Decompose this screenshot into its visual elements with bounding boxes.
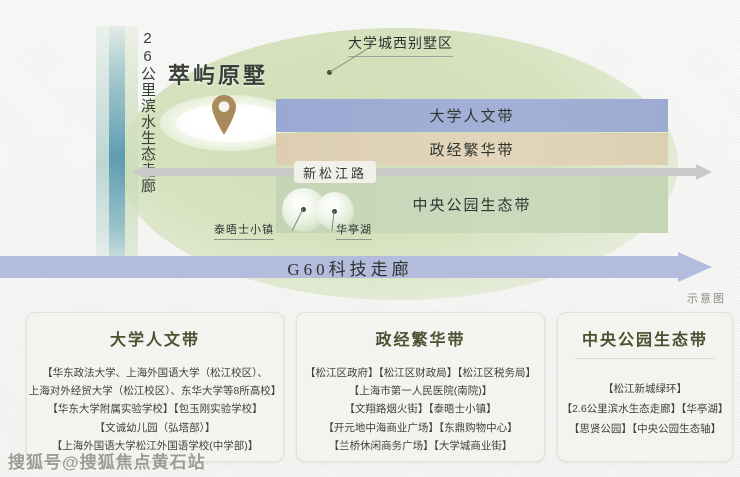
road-name-label: 新松江路	[294, 161, 376, 183]
card-government-belt: 政经繁华带 【松江区政府】【松江区财政局】【松江区税务局】 【上海市第一人民医院…	[296, 312, 545, 462]
road-arrow	[132, 163, 712, 181]
card-line: 【思贤公园】【中央公园生态轴】	[569, 422, 721, 436]
villa-district-leader-line	[320, 26, 380, 78]
card-line: 【松江区政府】【松江区财政局】【松江区税务局】	[305, 366, 536, 380]
card-line: 【松江新城绿环】	[603, 382, 687, 396]
card-line: 【开元地中海商业广场】【东鼎购物中心】	[323, 421, 517, 435]
card-line: 【华东大学附属实验学校】【包玉刚实验学校】	[47, 402, 262, 416]
card-line: 上海对外经贸大学（松江校区）、东华大学等8所高校】	[29, 384, 282, 398]
waterfront-ribbon-outer	[96, 26, 109, 278]
map-pin-icon	[209, 94, 239, 136]
project-name-label: 萃屿原墅	[168, 58, 268, 90]
card-university-belt-title: 大学人文带	[110, 326, 200, 350]
card-government-belt-lines: 【松江区政府】【松江区财政局】【松江区税务局】 【上海市第一人民医院(南院)】 …	[305, 366, 536, 453]
card-university-belt: 大学人文带 【华东政法大学、上海外国语大学（松江校区）、 上海对外经贸大学（松江…	[26, 312, 284, 462]
card-divider	[575, 358, 714, 359]
g60-corridor-label: G60科技走廊	[0, 252, 700, 282]
poi-label-thames-town: 泰晤士小镇	[214, 221, 274, 240]
band-university: 大学人文带	[276, 99, 668, 132]
card-line: 【文翔路烟火街】【泰晤士小镇】	[344, 402, 496, 416]
band-university-label: 大学人文带	[429, 105, 514, 126]
waterfront-ribbon-core	[109, 26, 125, 278]
card-central-park-belt: 中央公园生态带 【松江新城绿环】 【2.6公里滨水生态走廊】【华亭湖】 【思贤公…	[557, 312, 733, 462]
band-government-label: 政经繁华带	[429, 139, 514, 160]
card-central-park-belt-lines: 【松江新城绿环】 【2.6公里滨水生态走廊】【华亭湖】 【思贤公园】【中央公园生…	[566, 367, 724, 451]
schematic-diagram: 26公里滨水生态走廊 萃屿原墅 大学城西别墅区 大学人文带 政经繁华带 中央公园…	[0, 0, 740, 310]
card-line: 【华东政法大学、上海外国语大学（松江校区）、	[42, 366, 268, 380]
schematic-footnote: 示意图	[687, 290, 726, 306]
card-line: 【兰桥休闲商务广场】【大学城商业街】	[329, 439, 513, 453]
belt-cards-row: 大学人文带 【华东政法大学、上海外国语大学（松江校区）、 上海对外经贸大学（松江…	[0, 312, 740, 462]
card-line: 【文诚幼儿园（弘塔部）】	[95, 421, 216, 435]
card-government-belt-title: 政经繁华带	[375, 326, 465, 350]
card-university-belt-lines: 【华东政法大学、上海外国语大学（松江校区）、 上海对外经贸大学（松江校区）、东华…	[35, 366, 275, 453]
source-watermark: 搜狐号@搜狐焦点黄石站	[8, 448, 206, 473]
poi-label-huating-lake: 华亭湖	[336, 221, 372, 240]
card-line: 【2.6公里滨水生态走廊】【华亭湖】	[562, 402, 729, 416]
card-line: 【上海市第一人民医院(南院)】	[349, 384, 493, 398]
band-central-park-label: 中央公园生态带	[412, 194, 531, 215]
card-central-park-belt-title: 中央公园生态带	[582, 326, 708, 350]
